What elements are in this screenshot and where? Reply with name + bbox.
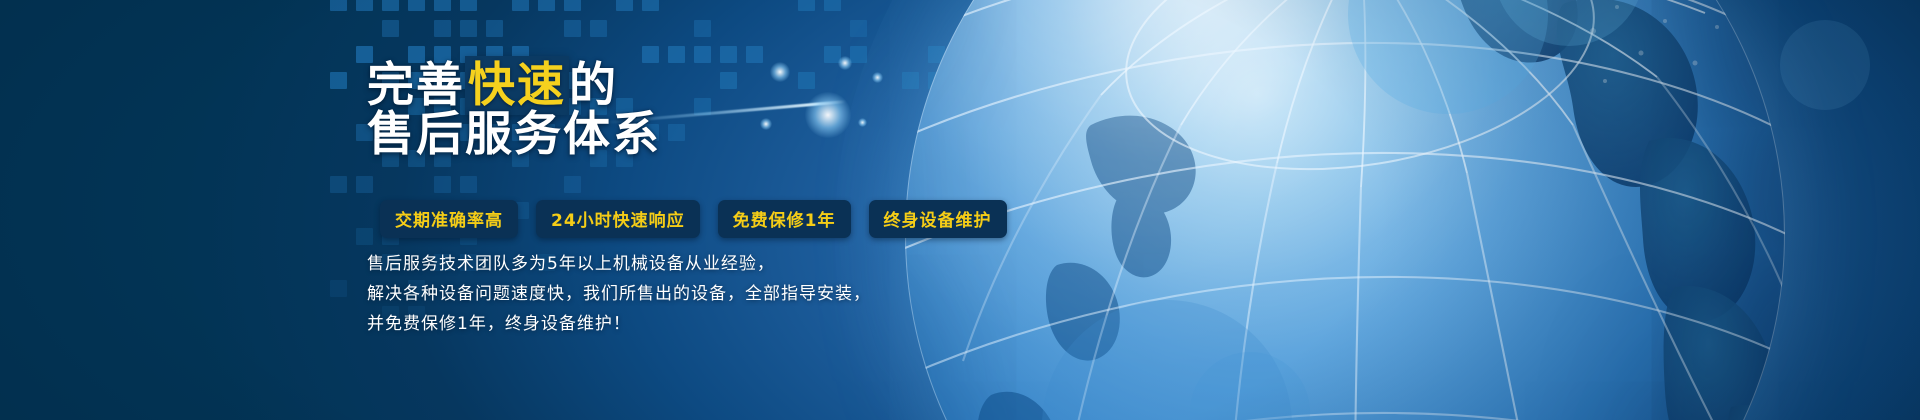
headline-prefix: 完善 (367, 58, 465, 113)
badge-24h-response[interactable]: 24小时快速响应 (536, 200, 700, 238)
badge-lifetime-maintenance[interactable]: 终身设备维护 (869, 200, 1007, 238)
feature-badge-list: 交期准确率高 24小时快速响应 免费保修1年 终身设备维护 (380, 200, 1007, 238)
description-line-3: 并免费保修1年，终身设备维护！ (367, 309, 871, 339)
banner-content: 完善快速的 售后服务体系 交期准确率高 24小时快速响应 免费保修1年 终身设备… (0, 0, 1920, 420)
headline-line-1: 完善快速的 (367, 59, 618, 113)
description-line-2: 解决各种设备问题速度快，我们所售出的设备，全部指导安装， (367, 279, 871, 309)
service-banner: 完善快速的 售后服务体系 交期准确率高 24小时快速响应 免费保修1年 终身设备… (0, 0, 1920, 420)
description-line-1: 售后服务技术团队多为5年以上机械设备从业经验， (367, 249, 871, 279)
description-paragraph: 售后服务技术团队多为5年以上机械设备从业经验， 解决各种设备问题速度快，我们所售… (367, 249, 871, 339)
headline-line-2: 售后服务体系 (367, 108, 661, 162)
headline-suffix: 的 (569, 58, 618, 113)
badge-delivery-accuracy[interactable]: 交期准确率高 (380, 200, 518, 238)
badge-free-warranty[interactable]: 免费保修1年 (718, 200, 851, 238)
